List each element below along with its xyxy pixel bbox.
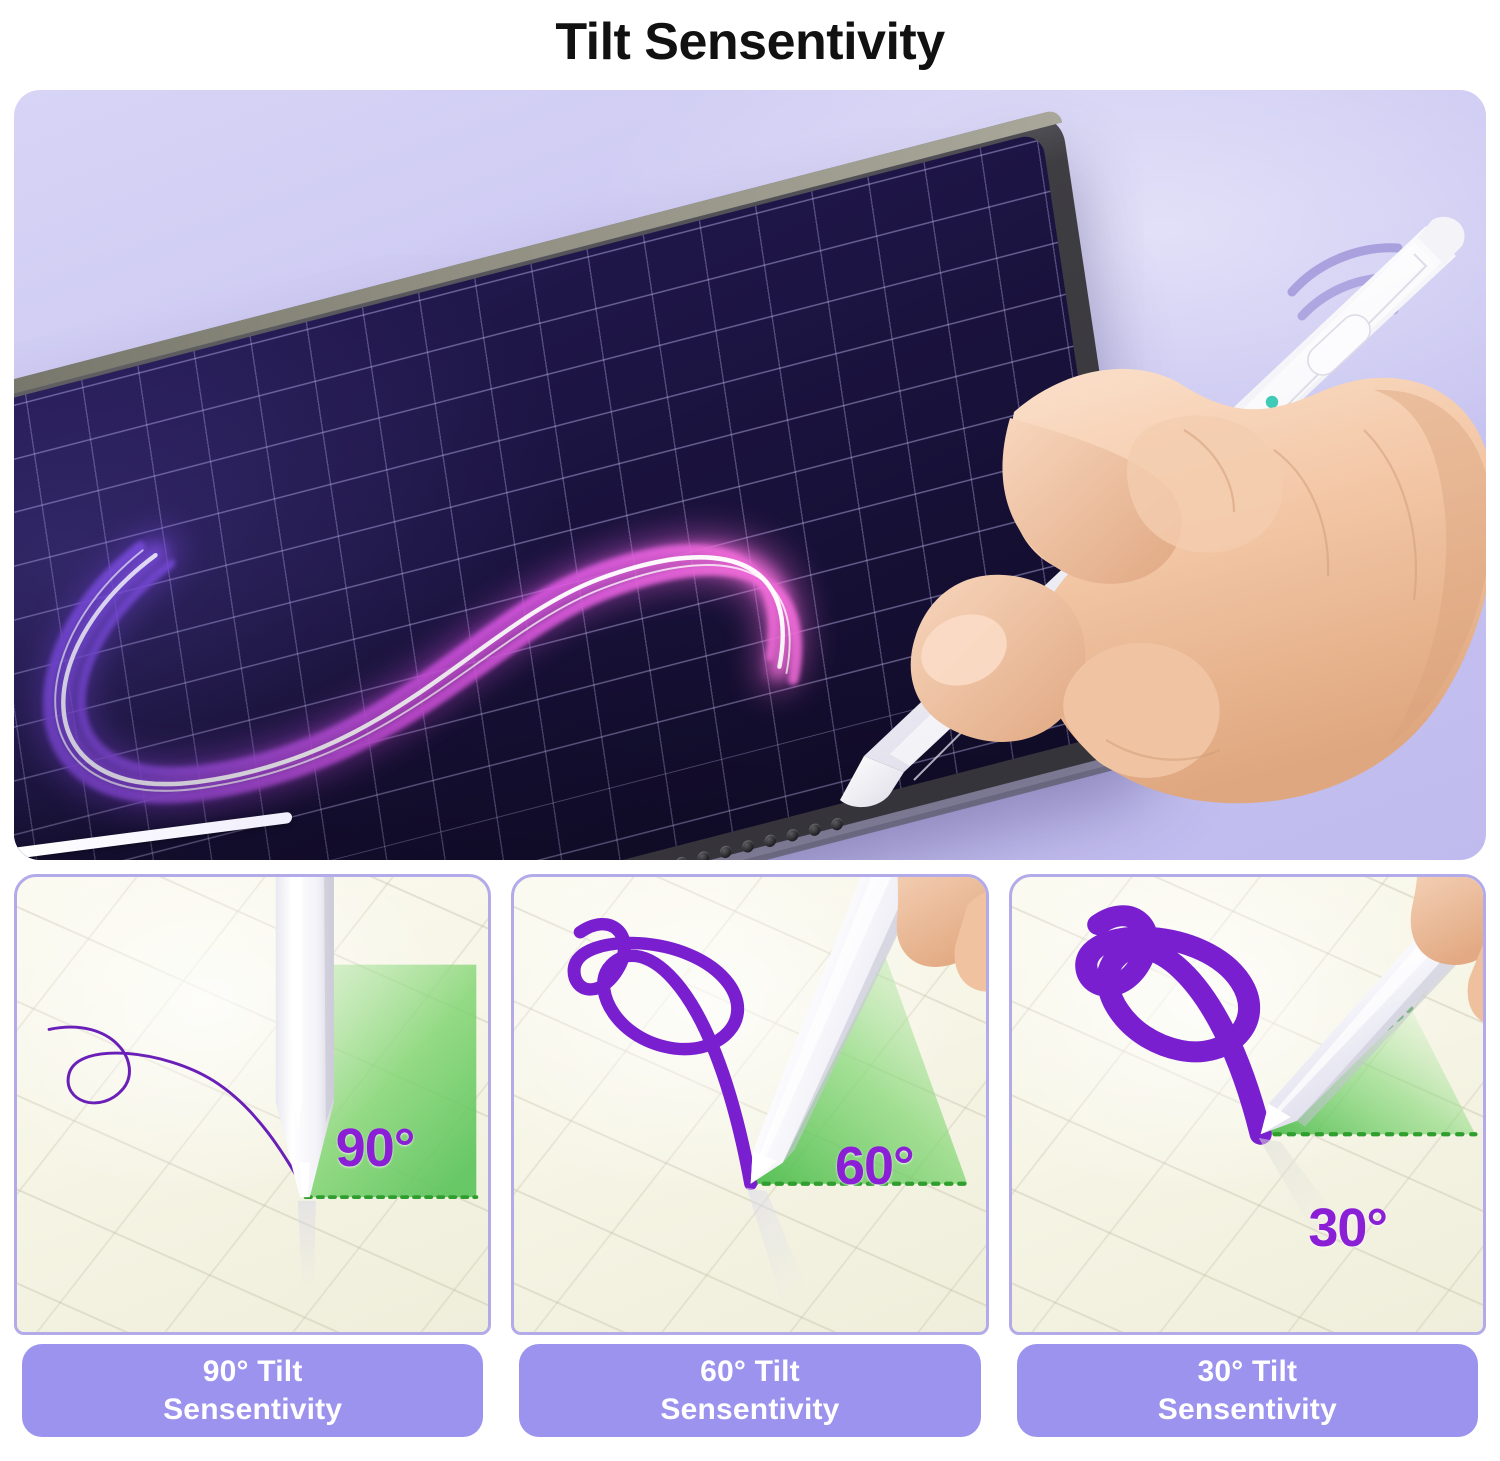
caption-line-1: 90° Tilt — [163, 1353, 342, 1391]
hand — [910, 369, 1486, 803]
caption-line-2: Sensentivity — [1158, 1391, 1337, 1429]
panel-30-illustration — [1012, 877, 1483, 1332]
panel-90-image: 90° — [14, 874, 491, 1335]
tilt-sensitivity-hero — [14, 90, 1486, 860]
panel-90-caption: 90° Tilt Sensentivity — [22, 1344, 483, 1437]
caption-line-1: 30° Tilt — [1158, 1353, 1337, 1391]
panel-90-degrees[interactable]: 90° 90° Tilt Sensentivity — [14, 874, 491, 1447]
hand-holding-stylus — [714, 180, 1486, 840]
caption-line-1: 60° Tilt — [660, 1353, 839, 1391]
drawn-stroke-medium — [574, 924, 738, 1049]
panel-60-illustration — [514, 877, 985, 1332]
caption-line-2: Sensentivity — [660, 1391, 839, 1429]
angle-label-30: 30° — [1308, 1197, 1387, 1259]
panel-60-image: 60° — [511, 874, 988, 1335]
angle-label-60: 60° — [835, 1135, 914, 1197]
drawn-stroke-thin — [49, 1027, 308, 1195]
panel-60-caption: 60° Tilt Sensentivity — [519, 1344, 980, 1437]
angle-label-90: 90° — [336, 1117, 415, 1179]
page-title: Tilt Sensentivity — [0, 0, 1500, 84]
fingers — [897, 877, 986, 992]
panel-30-degrees[interactable]: 30° 30° Tilt Sensentivity — [1009, 874, 1486, 1447]
tilt-angle-panels: 90° 90° Tilt Sensentivity — [14, 874, 1486, 1447]
panel-60-degrees[interactable]: 60° 60° Tilt Sensentivity — [511, 874, 988, 1447]
panel-90-illustration — [17, 877, 488, 1332]
panel-30-caption: 30° Tilt Sensentivity — [1017, 1344, 1478, 1437]
panel-30-image: 30° — [1009, 874, 1486, 1335]
caption-line-2: Sensentivity — [163, 1391, 342, 1429]
